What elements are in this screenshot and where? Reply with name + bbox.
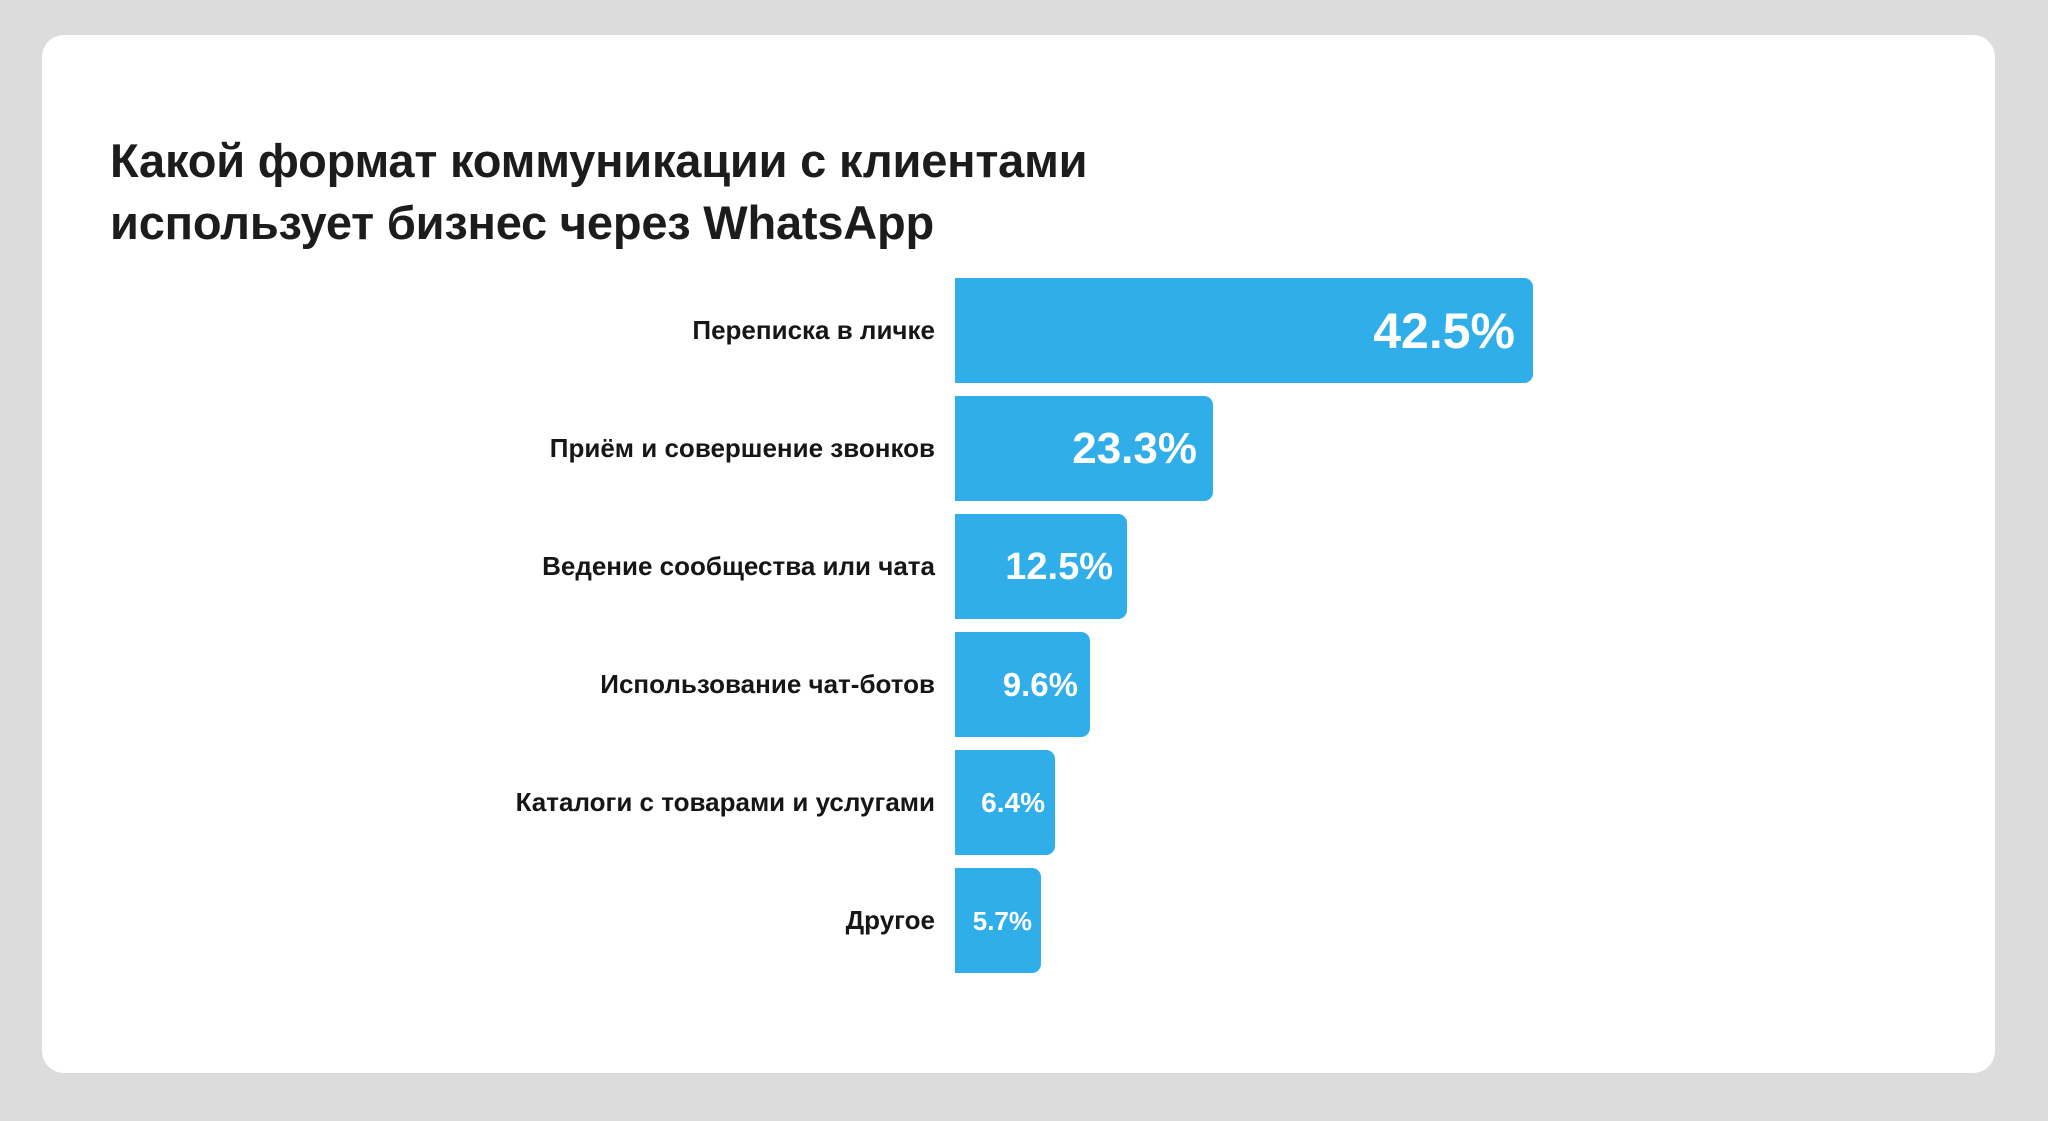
bar: 6.4% <box>955 750 1055 855</box>
bar-track: 42.5% <box>955 278 1995 383</box>
bar-track: 9.6% <box>955 632 1995 737</box>
bar-value-label: 23.3% <box>1072 427 1213 471</box>
title-line-1: Какой формат коммуникации с клиентами <box>110 130 1410 192</box>
bar-category-label: Приём и совершение звонков <box>550 396 935 501</box>
bar: 5.7% <box>955 868 1041 973</box>
bar-track: 12.5% <box>955 514 1995 619</box>
bar-value-label: 5.7% <box>973 908 1041 934</box>
bar: 23.3% <box>955 396 1213 501</box>
bar-value-label: 42.5% <box>1373 306 1533 356</box>
bar: 12.5% <box>955 514 1127 619</box>
bar-value-label: 6.4% <box>981 789 1055 817</box>
bar-value-label: 9.6% <box>1003 668 1090 701</box>
bar-row: Переписка в личке42.5% <box>42 278 1995 383</box>
bar-row: Ведение сообщества или чата12.5% <box>42 514 1995 619</box>
bar-category-label: Использование чат-ботов <box>600 632 935 737</box>
bar-row: Использование чат-ботов9.6% <box>42 632 1995 737</box>
page-title: Какой формат коммуникации с клиентами ис… <box>110 130 1410 254</box>
bar-row: Приём и совершение звонков23.3% <box>42 396 1995 501</box>
title-line-2: использует бизнес через WhatsApp <box>110 192 1410 254</box>
bar-track: 23.3% <box>955 396 1995 501</box>
bar-category-label: Ведение сообщества или чата <box>542 514 935 619</box>
bar-track: 6.4% <box>955 750 1995 855</box>
bar-value-label: 12.5% <box>1005 548 1127 586</box>
bar-row: Каталоги с товарами и услугами6.4% <box>42 750 1995 855</box>
bar-track: 5.7% <box>955 868 1995 973</box>
bar-category-label: Другое <box>846 868 935 973</box>
bar: 9.6% <box>955 632 1090 737</box>
bar-row: Другое5.7% <box>42 868 1995 973</box>
bar-category-label: Каталоги с товарами и услугами <box>516 750 935 855</box>
bar-category-label: Переписка в личке <box>692 278 935 383</box>
chart-card: Какой формат коммуникации с клиентами ис… <box>42 35 1995 1073</box>
bar: 42.5% <box>955 278 1533 383</box>
bar-chart: Переписка в личке42.5%Приём и совершение… <box>42 278 1995 1038</box>
